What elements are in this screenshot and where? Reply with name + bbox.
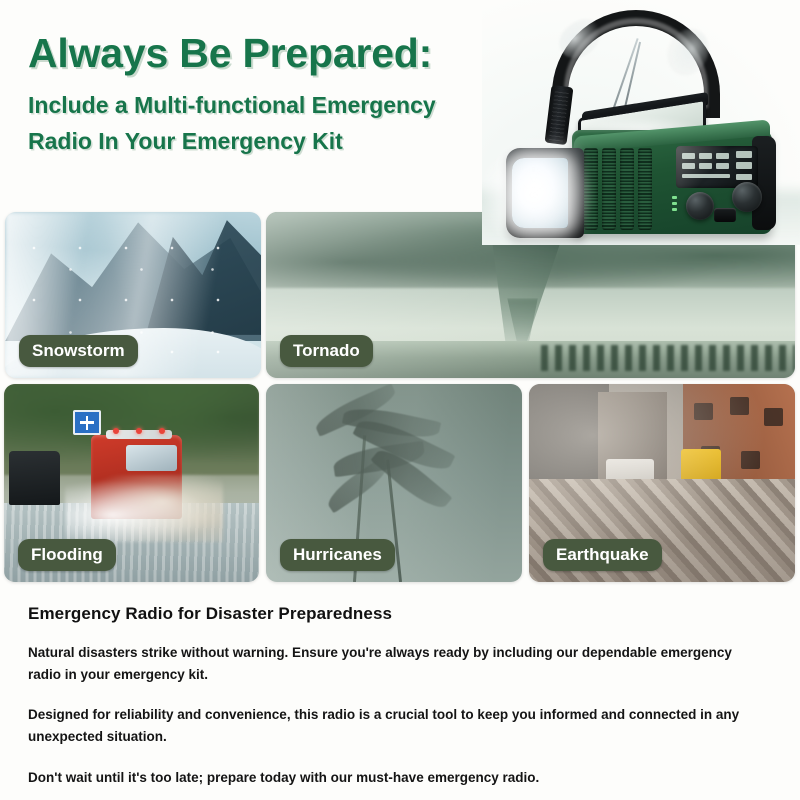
description-paragraph-2: Designed for reliability and convenience… (28, 704, 768, 748)
led-indicator (672, 208, 677, 211)
grille-slat (638, 148, 652, 230)
grille-slat (620, 148, 634, 230)
led-indicator (672, 196, 677, 199)
disaster-panel-flooding[interactable]: Flooding (4, 384, 259, 582)
disaster-grid-bottom-row: Flooding Hurricanes (0, 384, 800, 582)
tuning-knob (686, 192, 714, 220)
emergency-radio-illustration (500, 8, 792, 240)
headline-secondary: Include a Multi-functional Emergency Rad… (28, 88, 528, 159)
description-section: Emergency Radio for Disaster Preparednes… (0, 590, 800, 789)
headline-block: Always Be Prepared: Include a Multi-func… (28, 32, 528, 159)
flashlight-lens (512, 158, 568, 228)
lcd-glare (676, 146, 739, 188)
disaster-panel-earthquake[interactable]: Earthquake (529, 384, 795, 582)
promo-page: Always Be Prepared: Include a Multi-func… (0, 0, 800, 800)
product-image (482, 0, 800, 245)
led-indicator (672, 202, 677, 205)
water-splash (65, 475, 223, 542)
hero-section: Always Be Prepared: Include a Multi-func… (0, 0, 800, 212)
headline-secondary-line-2: Radio In Your Emergency Kit (28, 124, 528, 160)
mode-switch (714, 208, 736, 222)
grille-slat (584, 148, 598, 230)
hospital-road-sign (73, 410, 101, 436)
disaster-panel-snowstorm[interactable]: Snowstorm (5, 212, 261, 378)
panel-label-earthquake: Earthquake (543, 539, 662, 571)
panel-label-snowstorm: Snowstorm (19, 335, 138, 367)
panel-label-flooding: Flooding (18, 539, 116, 571)
volume-knob (732, 182, 762, 212)
hand-strap (545, 85, 574, 145)
panel-label-tornado: Tornado (280, 335, 373, 367)
status-leds (672, 196, 677, 216)
disaster-panel-hurricanes[interactable]: Hurricanes (266, 384, 522, 582)
lcd-segment (736, 162, 752, 169)
light-bulb (159, 428, 165, 434)
headline-primary: Always Be Prepared: (28, 32, 528, 75)
lcd-segment (736, 174, 752, 180)
submerged-car (9, 451, 60, 504)
description-paragraph-3: Don't wait until it's too late; prepare … (28, 767, 768, 789)
speaker-grille-icon (584, 148, 664, 230)
truck-windshield (126, 445, 177, 471)
grille-slat (602, 148, 616, 230)
headline-secondary-line-1: Include a Multi-functional Emergency (28, 88, 528, 124)
lcd-segment (736, 151, 752, 158)
light-bulb (113, 428, 119, 434)
section-heading: Emergency Radio for Disaster Preparednes… (28, 604, 772, 624)
emergency-lights (106, 430, 172, 440)
description-paragraph-1: Natural disasters strike without warning… (28, 642, 768, 686)
panel-label-hurricanes: Hurricanes (280, 539, 395, 571)
